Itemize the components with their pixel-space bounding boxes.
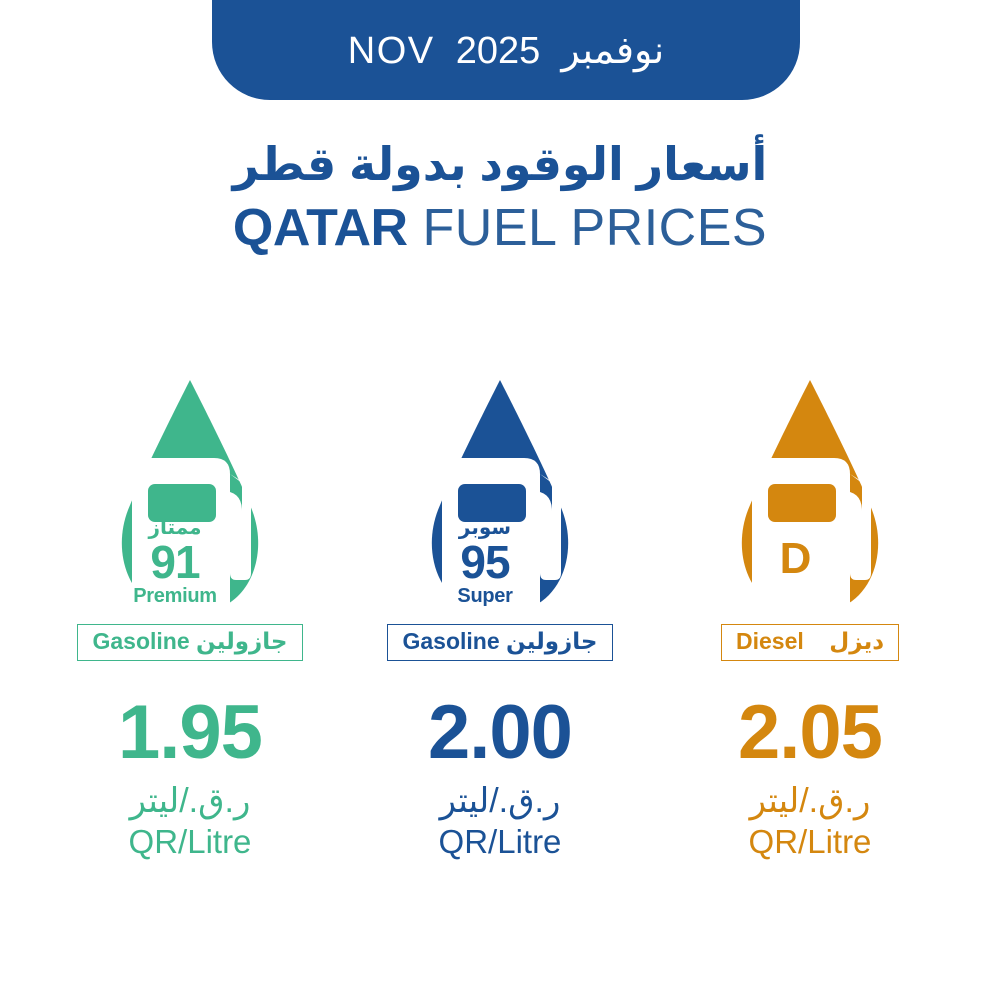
fuel-icon-super-95: سوبر 95 Super: [400, 378, 600, 614]
fuel-price-value: 1.95: [118, 695, 262, 771]
month-banner-text: نوفمبر 2025 NOV: [348, 24, 664, 73]
page-title-block: أسعار الوقود بدولة قطر QATAR FUEL PRICES: [0, 136, 1000, 257]
fuel-price-block-diesel: 2.05 ر.ق./ليتر QR/Litre: [738, 695, 882, 861]
fuel-price-value: 2.05: [738, 695, 882, 771]
fuel-price-unit-arabic: ر.ق./ليتر: [428, 783, 572, 820]
header-banner-wrap: نوفمبر 2025 NOV: [0, 0, 1000, 104]
fuel-price-unit-arabic: ر.ق./ليتر: [738, 783, 882, 820]
fuel-price-block-super-95: 2.00 ر.ق./ليتر QR/Litre: [428, 695, 572, 861]
page-title-arabic: أسعار الوقود بدولة قطر: [0, 136, 1000, 194]
fuel-type-pill-super-95: جازولين Gasoline: [387, 624, 612, 661]
fuel-drop-pump-icon: [710, 378, 910, 614]
fuel-card-list: ممتاز 91 Premium جازولين Gasoline 1.95 ر…: [0, 378, 1000, 861]
fuel-price-unit-english: QR/Litre: [738, 824, 882, 860]
fuel-card-diesel: D ديزل Diesel 2.05 ر.ق./ليتر QR/Litre: [655, 378, 965, 861]
page-title-english-strong: QATAR: [233, 199, 408, 257]
fuel-type-pill-premium-91: جازولين Gasoline: [77, 624, 302, 661]
fuel-drop-pump-icon: [90, 378, 290, 614]
fuel-icon-diesel: D: [710, 378, 910, 614]
fuel-icon-premium-91: ممتاز 91 Premium: [90, 378, 290, 614]
fuel-type-pill-diesel: ديزل Diesel: [721, 624, 899, 661]
fuel-price-unit-english: QR/Litre: [428, 824, 572, 860]
fuel-card-super-95: سوبر 95 Super جازولين Gasoline 2.00 ر.ق.…: [345, 378, 655, 861]
fuel-price-unit-english: QR/Litre: [118, 824, 262, 860]
page-title-english-light: FUEL PRICES: [408, 199, 768, 257]
month-banner: نوفمبر 2025 NOV: [212, 0, 800, 100]
fuel-price-value: 2.00: [428, 695, 572, 771]
fuel-drop-pump-icon: [400, 378, 600, 614]
fuel-card-premium-91: ممتاز 91 Premium جازولين Gasoline 1.95 ر…: [35, 378, 345, 861]
fuel-price-unit-arabic: ر.ق./ليتر: [118, 783, 262, 820]
page-title-english: QATAR FUEL PRICES: [0, 200, 1000, 257]
fuel-price-block-premium-91: 1.95 ر.ق./ليتر QR/Litre: [118, 695, 262, 861]
